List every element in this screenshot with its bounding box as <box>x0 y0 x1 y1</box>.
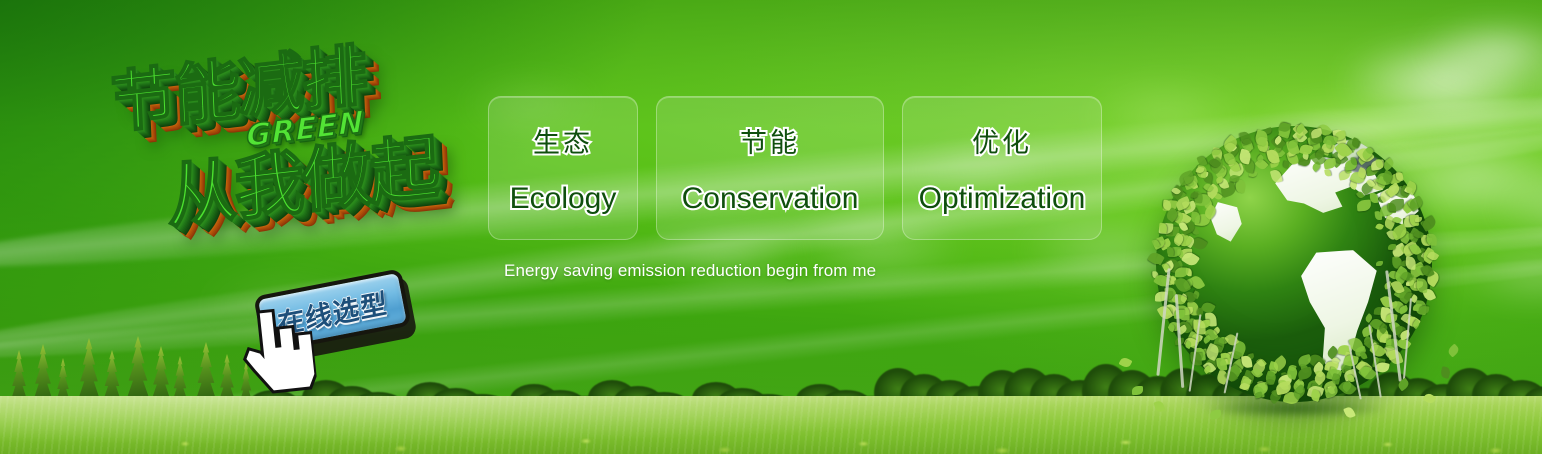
leaf-icon <box>1396 378 1410 392</box>
globe-dark-patch <box>1348 156 1382 174</box>
leaf-icon <box>1422 392 1436 406</box>
feature-card-conservation-cn: 节能 <box>740 121 800 160</box>
feature-card-optimization-en: Optimization <box>919 182 1086 216</box>
feature-card-optimization[interactable]: 优化 Optimization <box>902 96 1102 240</box>
continent-south-america <box>1286 250 1394 380</box>
feature-card-ecology-cn: 生态 <box>533 121 593 160</box>
feature-card-ecology-en: Ecology <box>510 182 617 216</box>
leaf-icon <box>1153 400 1165 413</box>
hand-pointer-icon <box>231 304 318 403</box>
banner-tagline: Energy saving emission reduction begin f… <box>504 261 876 281</box>
eco-promo-banner: 节能减排 GREEN 从我做起 在线选型 生态 Ecology 节能 Conse… <box>0 0 1542 454</box>
feature-card-group: 生态 Ecology 节能 Conservation 优化 Optimizati… <box>488 96 1102 240</box>
headline-3d: 节能减排 GREEN 从我做起 <box>96 34 496 274</box>
globe-sphere <box>1156 126 1432 402</box>
leafy-globe-icon <box>1148 118 1440 418</box>
feature-card-ecology[interactable]: 生态 Ecology <box>488 96 638 240</box>
feature-card-conservation[interactable]: 节能 Conservation <box>656 96 884 240</box>
feature-card-conservation-en: Conservation <box>682 182 859 216</box>
feature-card-optimization-cn: 优化 <box>972 121 1032 160</box>
continent-greenland <box>1204 200 1250 252</box>
